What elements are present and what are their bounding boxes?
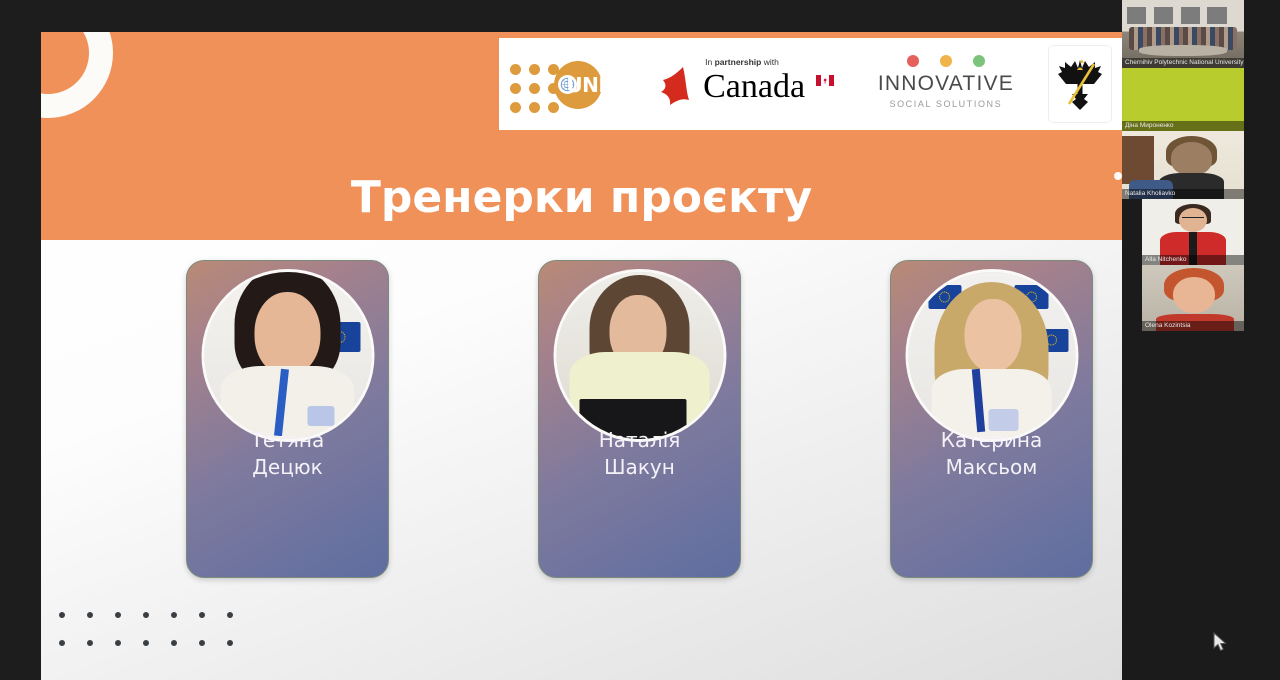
trainer-first-name: Наталія [599, 428, 681, 452]
stage-left-margin [0, 0, 41, 680]
page-title: Тренерки проєкту [41, 172, 1122, 223]
eagle-crest-icon [1057, 54, 1103, 114]
stage-top-margin [0, 0, 1122, 32]
trainer-name: Тетяна Децюк [187, 427, 388, 481]
presentation-slide[interactable]: UNFPA In partnership with [41, 32, 1122, 680]
canada-partnership-line: In partnership with [705, 57, 779, 67]
unfpa-wordmark: UNFPA [566, 73, 638, 97]
innovative-dots-icon [866, 55, 1026, 67]
dot-grid-decoration-icon [59, 612, 255, 668]
unfpa-logo: UNFPA [510, 56, 630, 112]
maple-leaf-icon [653, 65, 699, 114]
partner-logo-strip: UNFPA In partnership with [499, 38, 1122, 130]
slide-header-band: UNFPA In partnership with [41, 32, 1122, 240]
participant-name: Chernihiv Polytechnic National Universit… [1122, 58, 1244, 68]
participant-tile[interactable]: Alla Nitchenko [1142, 199, 1244, 265]
trainer-last-name: Шакун [604, 455, 675, 479]
trainer-name: Наталія Шакун [539, 427, 740, 481]
corner-dot-decoration-icon [1114, 172, 1122, 180]
mouse-cursor-icon [1213, 632, 1229, 659]
innovative-logo: INNOVATIVE SOCIAL SOLUTIONS [866, 53, 1026, 115]
video-call-window: UNFPA In partnership with [0, 0, 1280, 680]
participant-tile[interactable]: Діна Мироненко [1122, 68, 1244, 131]
participant-tile[interactable]: Natalia Kholiavko [1122, 131, 1244, 199]
avatar [201, 269, 374, 442]
participant-video-rail[interactable]: Chernihiv Polytechnic National Universit… [1122, 0, 1280, 680]
avatar [905, 269, 1078, 442]
participant-tile[interactable]: Chernihiv Polytechnic National Universit… [1122, 0, 1244, 68]
canada-flag-icon [816, 75, 834, 86]
trainer-card[interactable]: Катерина Максьом [890, 260, 1093, 578]
trainer-last-name: Децюк [252, 455, 322, 479]
participant-name: Olena Kozintsia [1142, 321, 1244, 331]
canada-logo: In partnership with Canada [653, 53, 843, 115]
innovative-wordmark: INNOVATIVE [866, 72, 1026, 96]
shared-screen-stage[interactable]: UNFPA In partnership with [0, 0, 1122, 680]
innovative-subtitle: SOCIAL SOLUTIONS [866, 99, 1026, 109]
trainer-name: Катерина Максьом [891, 427, 1092, 481]
trainer-first-name: Катерина [941, 428, 1042, 452]
ring-decoration-icon [41, 32, 113, 118]
participant-tile[interactable]: Olena Kozintsia [1142, 265, 1244, 331]
participant-name: Alla Nitchenko [1142, 255, 1244, 265]
trainer-last-name: Максьом [946, 455, 1038, 479]
trainer-card[interactable]: Наталія Шакун [538, 260, 741, 578]
university-crest-logo [1049, 46, 1111, 122]
trainer-first-name: Тетяна [251, 428, 325, 452]
participant-name: Natalia Kholiavko [1122, 189, 1244, 199]
participant-name: Діна Мироненко [1122, 121, 1244, 131]
avatar [553, 269, 726, 442]
canada-wordmark: Canada [703, 68, 805, 106]
trainer-card[interactable]: Тетяна Децюк [186, 260, 389, 578]
trainer-card-group: Тетяна Децюк Наталія Шакун [41, 260, 1122, 580]
